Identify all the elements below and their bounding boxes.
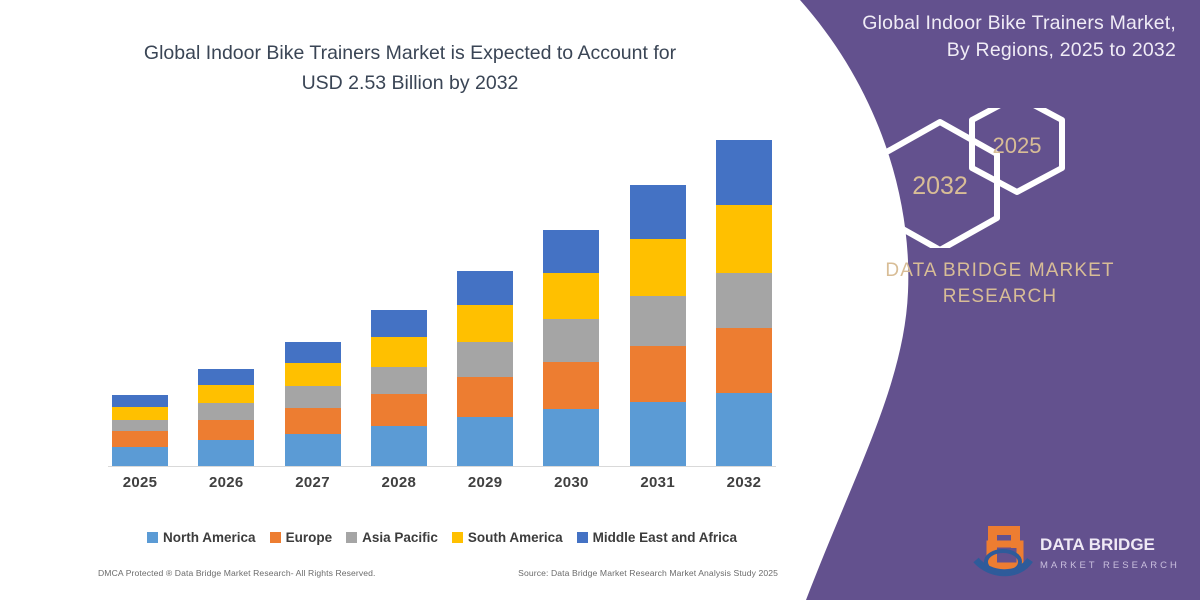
- bar-segment: [716, 273, 772, 328]
- hexagon-2032: 2032: [883, 122, 997, 248]
- bar-segment: [112, 431, 168, 446]
- x-axis-labels: 20252026202720282029203020312032: [112, 474, 772, 491]
- bar-segment: [630, 402, 686, 466]
- data-bridge-logo: DATA BRIDGE MARKET RESEARCH: [970, 520, 1190, 582]
- footer-source: Source: Data Bridge Market Research Mark…: [518, 568, 778, 578]
- legend-label: South America: [468, 530, 563, 545]
- legend-label: North America: [163, 530, 256, 545]
- bar-segment: [198, 440, 254, 466]
- infographic-page: Global Indoor Bike Trainers Market, By R…: [0, 0, 1200, 600]
- logo-text-line1: DATA BRIDGE: [1040, 535, 1155, 554]
- bar-segment: [630, 346, 686, 401]
- bar-segment: [371, 310, 427, 337]
- brand-line2: RESEARCH: [824, 284, 1176, 310]
- footer-copyright: DMCA Protected ® Data Bridge Market Rese…: [98, 568, 376, 578]
- bar-column-2031: [630, 140, 686, 466]
- chart-title-line2: USD 2.53 Billion by 2032: [60, 68, 760, 98]
- x-tick-2031: 2031: [630, 474, 686, 491]
- bar-segment: [112, 447, 168, 466]
- bar-column-2032: [716, 140, 772, 466]
- bar-segment: [716, 140, 772, 205]
- panel-title-line2: By Regions, 2025 to 2032: [824, 37, 1176, 64]
- bar-column-2030: [543, 140, 599, 466]
- x-tick-2025: 2025: [112, 474, 168, 491]
- bar-segment: [112, 395, 168, 407]
- legend-label: Middle East and Africa: [593, 530, 737, 545]
- bar-segment: [457, 271, 513, 305]
- legend-swatch-icon: [147, 532, 158, 543]
- bar-segment: [371, 367, 427, 394]
- chart-title: Global Indoor Bike Trainers Market is Ex…: [60, 38, 760, 98]
- bar-segment: [457, 377, 513, 417]
- bar-segment: [457, 417, 513, 466]
- bar-segment: [198, 385, 254, 403]
- bar-segment: [285, 408, 341, 434]
- hexagon-2025-label: 2025: [993, 133, 1042, 158]
- bar-segment: [285, 363, 341, 386]
- axis-baseline: [108, 466, 776, 467]
- hexagon-badges: 2032 2025: [830, 108, 1170, 248]
- bar-segment: [543, 319, 599, 362]
- bar-column-2028: [371, 140, 427, 466]
- bar-segment: [543, 362, 599, 410]
- panel-title: Global Indoor Bike Trainers Market, By R…: [824, 10, 1176, 64]
- legend-item[interactable]: Europe: [270, 530, 333, 545]
- legend-item[interactable]: North America: [147, 530, 256, 545]
- bar-segment: [716, 205, 772, 273]
- brand-line1: DATA BRIDGE MARKET: [885, 260, 1114, 281]
- bar-segment: [543, 409, 599, 466]
- x-tick-2032: 2032: [716, 474, 772, 491]
- bar-column-2026: [198, 140, 254, 466]
- bar-segment: [285, 386, 341, 408]
- x-tick-2026: 2026: [198, 474, 254, 491]
- hexagon-2032-label: 2032: [912, 172, 968, 200]
- legend-item[interactable]: Asia Pacific: [346, 530, 438, 545]
- x-tick-2028: 2028: [371, 474, 427, 491]
- bar-segment: [716, 393, 772, 466]
- bar-segment: [543, 273, 599, 319]
- bar-segment: [457, 342, 513, 377]
- bar-segment: [112, 407, 168, 420]
- x-tick-2030: 2030: [543, 474, 599, 491]
- legend-swatch-icon: [452, 532, 463, 543]
- logo-b-mark: [976, 526, 1030, 573]
- bar-column-2025: [112, 140, 168, 466]
- bar-segment: [198, 369, 254, 384]
- x-tick-2027: 2027: [285, 474, 341, 491]
- x-tick-2029: 2029: [457, 474, 513, 491]
- bar-segment: [285, 342, 341, 363]
- bar-segment: [457, 305, 513, 342]
- panel-content: Global Indoor Bike Trainers Market, By R…: [800, 0, 1200, 600]
- bar-segment: [716, 328, 772, 392]
- bar-segment: [112, 420, 168, 432]
- bar-segment: [198, 403, 254, 420]
- footer: DMCA Protected ® Data Bridge Market Rese…: [98, 568, 778, 578]
- bar-segment: [371, 394, 427, 426]
- bar-column-2027: [285, 140, 341, 466]
- panel-title-line1: Global Indoor Bike Trainers Market,: [862, 12, 1176, 34]
- bar-segment: [543, 230, 599, 273]
- legend-item[interactable]: Middle East and Africa: [577, 530, 737, 545]
- bar-segment: [630, 185, 686, 239]
- bar-segment: [371, 426, 427, 466]
- legend-label: Asia Pacific: [362, 530, 438, 545]
- legend-label: Europe: [286, 530, 333, 545]
- legend-item[interactable]: South America: [452, 530, 563, 545]
- legend-swatch-icon: [346, 532, 357, 543]
- logo-text-line2: MARKET RESEARCH: [1040, 560, 1180, 571]
- bar-segment: [198, 420, 254, 441]
- chart-legend: North AmericaEuropeAsia PacificSouth Ame…: [112, 530, 772, 545]
- legend-swatch-icon: [577, 532, 588, 543]
- bar-segment: [630, 239, 686, 296]
- bar-segment: [371, 337, 427, 367]
- legend-swatch-icon: [270, 532, 281, 543]
- brand-name: DATA BRIDGE MARKET RESEARCH: [824, 258, 1176, 310]
- chart-title-line1: Global Indoor Bike Trainers Market is Ex…: [144, 42, 676, 64]
- stacked-bar-chart: [112, 140, 772, 466]
- bar-segment: [630, 296, 686, 346]
- bar-segment: [285, 434, 341, 466]
- bar-column-2029: [457, 140, 513, 466]
